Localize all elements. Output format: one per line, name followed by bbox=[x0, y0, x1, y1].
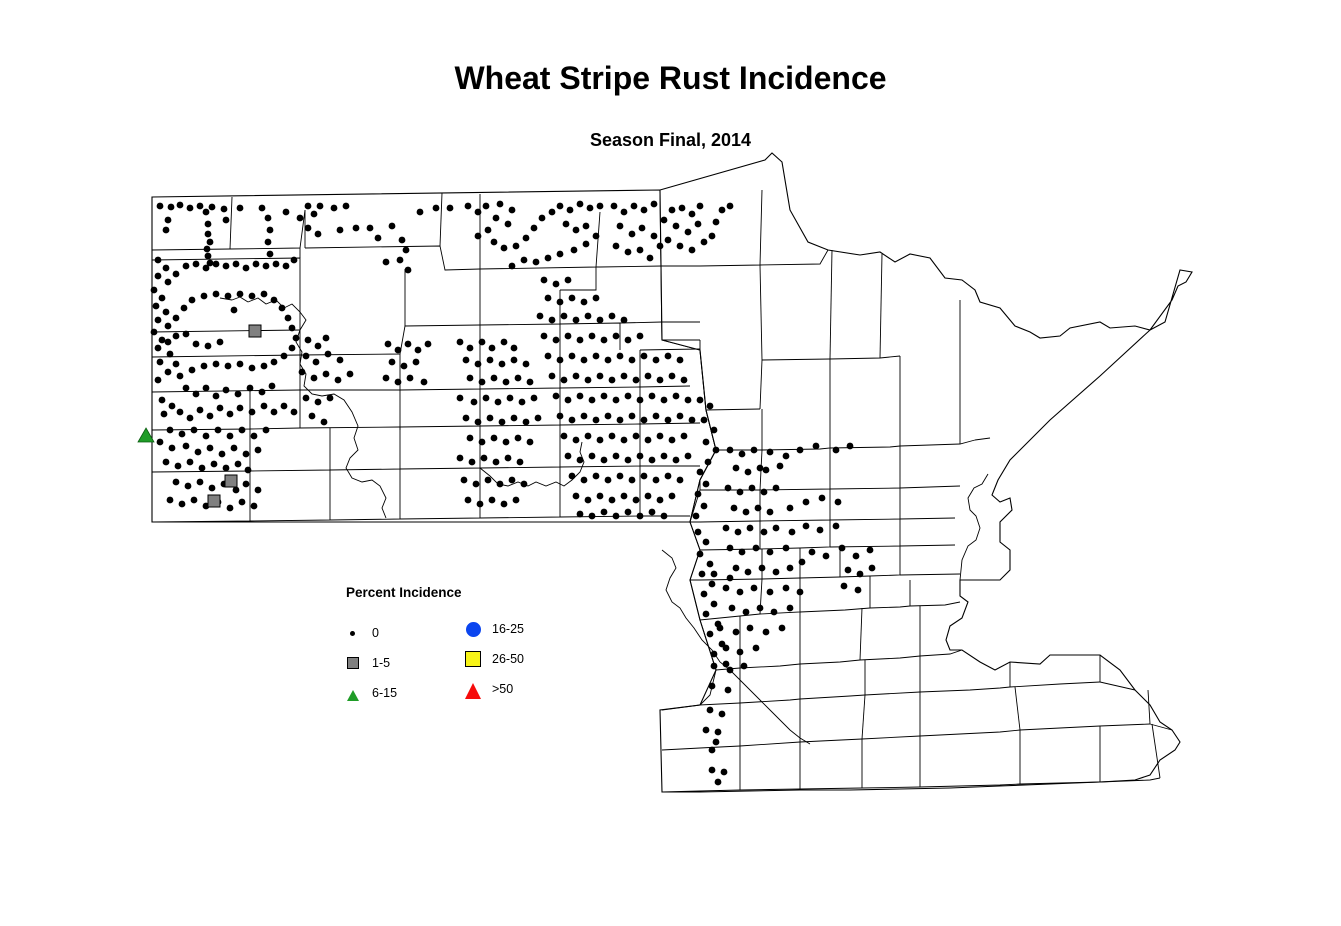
page-subtitle: Season Final, 2014 bbox=[0, 130, 1341, 151]
legend-label-16-25: 16-25 bbox=[492, 622, 524, 636]
legend-symbol-gray-square-icon bbox=[344, 653, 364, 673]
incidence-map bbox=[0, 150, 1341, 810]
legend-label-26-50: 26-50 bbox=[492, 652, 524, 666]
legend-symbol-green-triangle-icon bbox=[344, 683, 364, 703]
page-title: Wheat Stripe Rust Incidence bbox=[0, 60, 1341, 97]
legend-symbol-small-dot-icon bbox=[344, 623, 364, 643]
page-root: Wheat Stripe Rust Incidence Season Final… bbox=[0, 0, 1341, 926]
legend-title: Percent Incidence bbox=[346, 585, 462, 600]
legend-label-1-5: 1-5 bbox=[372, 656, 390, 670]
legend-label-over-50: >50 bbox=[492, 682, 513, 696]
legend-label-6-15: 6-15 bbox=[372, 686, 397, 700]
map-legend: Percent Incidence 0 1-5 6-15 16-25 bbox=[344, 585, 574, 710]
legend-label-0: 0 bbox=[372, 626, 379, 640]
map-container bbox=[0, 150, 1341, 810]
legend-symbol-yellow-square-icon bbox=[464, 649, 484, 669]
legend-symbol-red-triangle-icon bbox=[464, 679, 484, 699]
legend-symbol-blue-circle-icon bbox=[464, 619, 484, 639]
